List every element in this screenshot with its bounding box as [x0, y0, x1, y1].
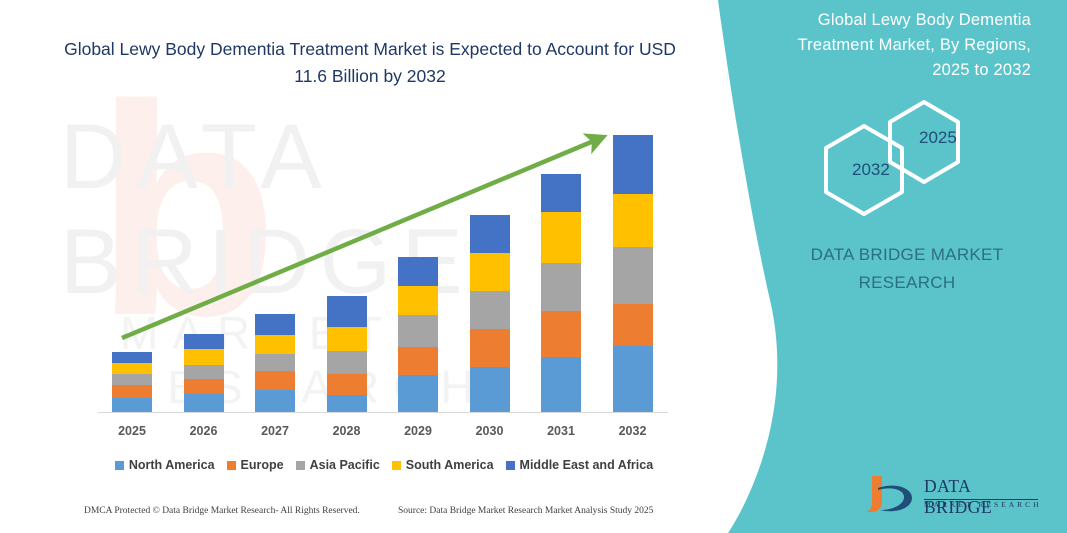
legend-item[interactable]: South America — [392, 458, 494, 472]
x-axis-label: 2031 — [526, 424, 596, 438]
x-axis-label: 2028 — [312, 424, 382, 438]
bar-segment — [255, 371, 295, 390]
bar-segment — [613, 346, 653, 412]
bar-segment — [398, 257, 438, 286]
bar-segment — [255, 390, 295, 412]
bar-segment — [327, 296, 367, 327]
legend-label: South America — [406, 458, 494, 472]
bar-segment — [541, 311, 581, 357]
bar-segment — [470, 329, 510, 367]
x-axis-label: 2026 — [169, 424, 239, 438]
footer-source: Source: Data Bridge Market Research Mark… — [398, 506, 653, 516]
databridge-logo: DATA BRIDGE MARKET RESEARCH — [862, 472, 1042, 520]
panel-title: Global Lewy Body Dementia Treatment Mark… — [779, 8, 1031, 83]
x-axis-label: 2032 — [598, 424, 668, 438]
hexagon-badges: 2025 2032 — [806, 98, 996, 218]
stacked-bar — [613, 135, 653, 412]
bar-segment — [112, 363, 152, 374]
x-axis-line — [98, 412, 668, 413]
x-axis-label: 2029 — [383, 424, 453, 438]
legend-item[interactable]: Asia Pacific — [296, 458, 380, 472]
chart-legend: North AmericaEuropeAsia PacificSouth Ame… — [98, 456, 670, 474]
bar-segment — [327, 395, 367, 412]
bar-segment — [398, 286, 438, 315]
bar-segment — [541, 263, 581, 311]
bar-segment — [184, 349, 224, 365]
bar-segment — [613, 304, 653, 346]
logo-mark-icon — [862, 472, 918, 516]
bar-segment — [613, 194, 653, 247]
bar-segment — [398, 347, 438, 375]
stacked-bar — [184, 334, 224, 412]
footer-copyright: DMCA Protected © Data Bridge Market Rese… — [84, 506, 360, 516]
legend-item[interactable]: North America — [115, 458, 215, 472]
stacked-bar — [541, 174, 581, 412]
hexagon-2025-label: 2025 — [919, 128, 957, 148]
bar-segment — [613, 247, 653, 304]
legend-swatch — [392, 461, 401, 470]
bar-segment — [255, 335, 295, 354]
footer: DMCA Protected © Data Bridge Market Rese… — [0, 506, 700, 528]
legend-swatch — [506, 461, 515, 470]
x-axis-label: 2027 — [240, 424, 310, 438]
x-axis-label: 2030 — [455, 424, 525, 438]
bar-segment — [184, 334, 224, 349]
bar-segment — [184, 394, 224, 412]
bar-segment — [112, 398, 152, 412]
stacked-bar — [112, 352, 152, 412]
legend-label: Europe — [241, 458, 284, 472]
stacked-bar — [398, 257, 438, 412]
bar-segment — [398, 315, 438, 347]
bar-segment — [470, 253, 510, 291]
legend-item[interactable]: Middle East and Africa — [506, 458, 654, 472]
bar-segment — [541, 212, 581, 263]
legend-swatch — [296, 461, 305, 470]
x-axis-label: 2025 — [97, 424, 167, 438]
bar-segment — [327, 327, 367, 351]
hexagon-2032-label: 2032 — [852, 160, 890, 180]
bar-segment — [327, 351, 367, 374]
logo-name: DATA BRIDGE — [924, 476, 1042, 518]
legend-label: North America — [129, 458, 215, 472]
bar-segment — [184, 365, 224, 379]
stacked-bar — [255, 314, 295, 412]
legend-item[interactable]: Europe — [227, 458, 284, 472]
bar-segment — [255, 354, 295, 371]
bar-segment — [327, 374, 367, 395]
logo-tagline: MARKET RESEARCH — [924, 500, 1042, 509]
legend-label: Asia Pacific — [310, 458, 380, 472]
bar-segment — [541, 357, 581, 412]
bar-segment — [613, 135, 653, 194]
bar-segment — [184, 379, 224, 394]
legend-label: Middle East and Africa — [520, 458, 654, 472]
legend-swatch — [115, 461, 124, 470]
infographic-page: b DATA BRIDGE MARKET RESEARCH Global Lew… — [0, 0, 1067, 533]
bar-segment — [112, 385, 152, 398]
stacked-bar — [470, 215, 510, 412]
legend-swatch — [227, 461, 236, 470]
bar-segment — [112, 374, 152, 385]
bar-segment — [470, 367, 510, 412]
bar-segment — [470, 215, 510, 253]
bar-segment — [112, 352, 152, 363]
bar-segment — [470, 291, 510, 329]
stacked-bar — [327, 296, 367, 412]
panel-brand-text: DATA BRIDGE MARKET RESEARCH — [781, 241, 1033, 297]
bar-segment — [541, 174, 581, 212]
chart-plot-area: 20252026202720282029203020312032 — [0, 0, 700, 420]
bar-segment — [255, 314, 295, 335]
bar-segment — [398, 375, 438, 412]
